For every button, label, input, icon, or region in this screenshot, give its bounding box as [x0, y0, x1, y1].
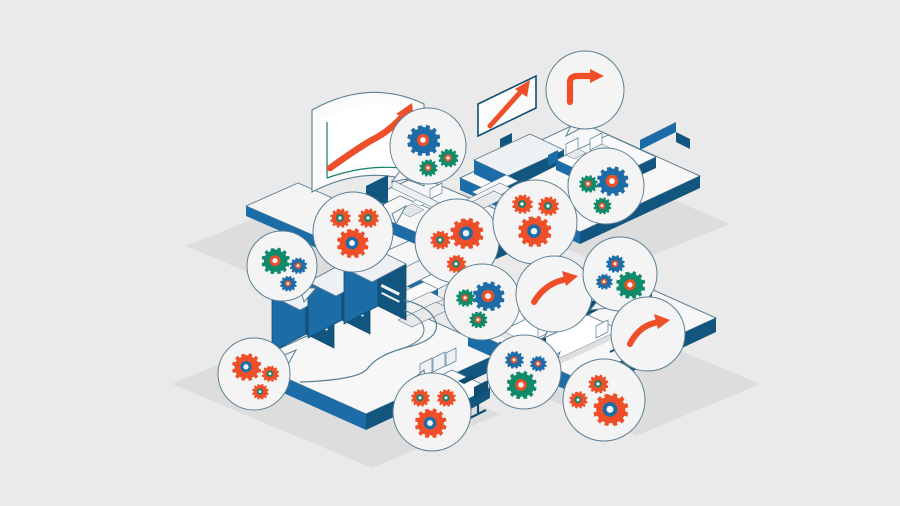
bubble-arrow-curved-right — [611, 297, 685, 371]
bubble-gears-office-right — [568, 148, 644, 224]
bubble-gears-cubicle-bottom — [563, 359, 645, 441]
isometric-illustration — [0, 0, 900, 506]
bubble-gears-cubicle-left — [444, 264, 520, 340]
bubble-gears-server-top — [247, 231, 317, 302]
bubble-gears-cubicle-bottomleft — [487, 335, 561, 409]
bubble-gears-control-top — [390, 108, 466, 184]
bubble-gears-office-left — [493, 180, 577, 264]
illustration-container — [0, 0, 900, 506]
slide-root: UP TO NOW Complex scientific expertise — [0, 0, 900, 506]
